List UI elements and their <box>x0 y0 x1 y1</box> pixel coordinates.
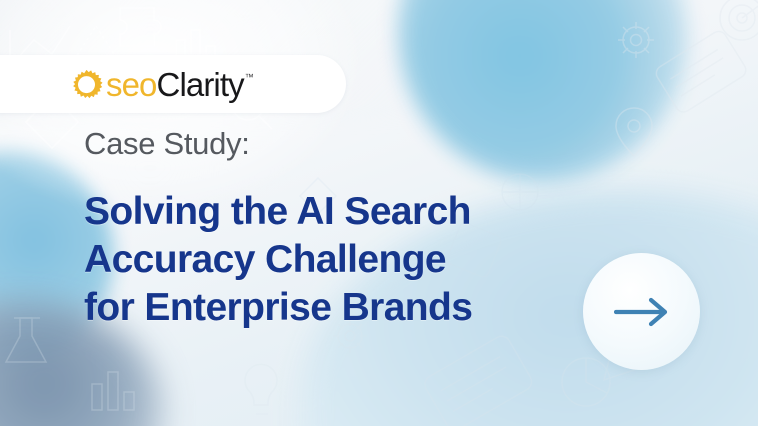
page-title: Solving the AI Search Accuracy Challenge… <box>84 188 472 332</box>
eyebrow-label: Case Study: <box>84 128 250 159</box>
trademark-symbol: ™ <box>245 73 253 82</box>
logo-banner: seoClarity™ <box>0 55 346 113</box>
brand-wordmark: seoClarity™ <box>106 68 253 101</box>
headline-line-2: Accuracy Challenge <box>84 236 472 284</box>
case-study-slide: seoClarity™ Case Study: Solving the AI S… <box>0 0 758 426</box>
brand-logo[interactable]: seoClarity™ <box>70 67 253 101</box>
headline-line-3: for Enterprise Brands <box>84 284 472 332</box>
arrow-right-icon <box>614 297 670 327</box>
seoclarity-sunburst-icon <box>70 68 103 101</box>
brand-wordmark-seo: seo <box>106 68 157 101</box>
next-button[interactable] <box>583 253 700 370</box>
headline-line-1: Solving the AI Search <box>84 188 472 236</box>
brand-wordmark-clarity: Clarity <box>157 68 244 101</box>
